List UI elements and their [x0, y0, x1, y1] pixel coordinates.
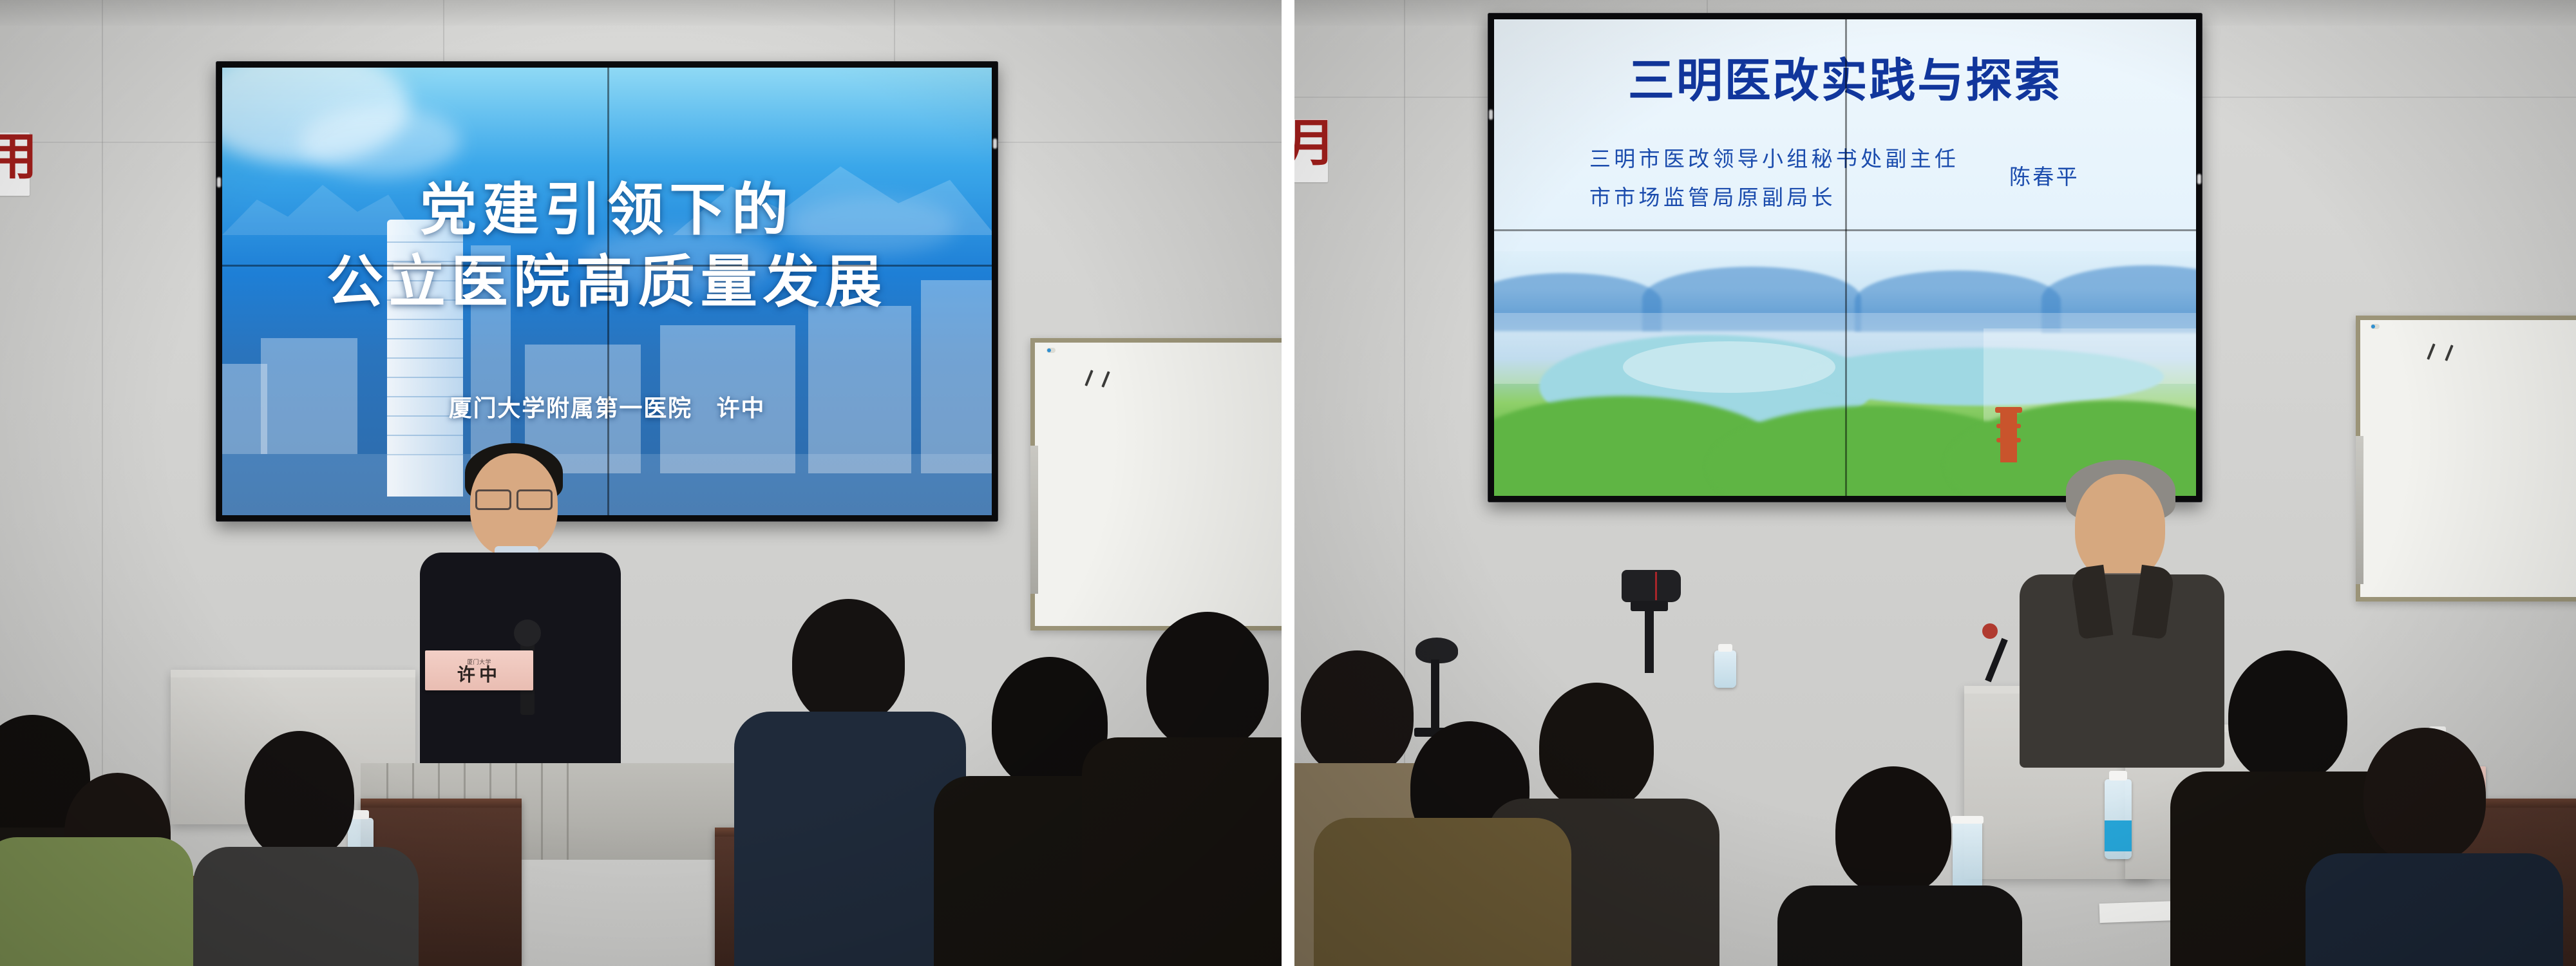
audience-head — [2228, 650, 2347, 782]
pagoda-eave — [1996, 424, 2021, 428]
whiteboard — [1030, 338, 1282, 630]
audience-head — [1539, 683, 1654, 810]
fire-safety-sign: 用 — [0, 133, 30, 196]
slide-subtitle-line2: 市市场监管局原副局长 — [1589, 180, 1836, 211]
audience-head — [1146, 612, 1269, 750]
whiteboard-magnet — [2371, 324, 2380, 329]
slide-presenter-name: 陈春平 — [2009, 160, 2079, 191]
audience-shoulders — [734, 712, 966, 966]
lectern-microphone-head — [1982, 623, 1998, 639]
glasses-right-lens — [516, 489, 553, 510]
video-wall-screen: 三明医改实践与探索 三明市医改领导小组秘书处副主任 市市场监管局原副局长 陈春平 — [1494, 19, 2196, 496]
video-camera — [1622, 570, 1681, 602]
audience-head — [792, 599, 905, 724]
audience-head — [245, 731, 354, 860]
speaker-coat — [2020, 574, 2224, 768]
audience-head — [1835, 766, 1951, 895]
slide-subtitle-line1: 三明市医改领导小组秘书处副主任 — [1589, 142, 1959, 173]
nameplate-left: 厦门大学 许中 — [425, 650, 533, 690]
whiteboard-mark — [1084, 370, 1093, 386]
pagoda-eave — [1996, 438, 2021, 442]
whiteboard-tray — [1030, 446, 1038, 594]
video-wall-seam-horizontal — [222, 265, 992, 267]
panel-divider — [1282, 0, 1294, 966]
video-wall-seam-vertical — [1845, 19, 1847, 496]
audience-shoulders — [2306, 853, 2563, 966]
left-photograph: 用 — [0, 0, 1282, 966]
whiteboard-mark — [2445, 345, 2453, 361]
water-bottle — [2105, 779, 2132, 859]
ceiling-left — [0, 0, 1282, 26]
audience-head — [2363, 728, 2486, 863]
tripod-pole — [1645, 610, 1654, 673]
bezel-glint — [1489, 109, 1493, 120]
glasses-left-lens — [475, 489, 511, 510]
whiteboard-mark — [1101, 371, 1110, 388]
bezel-glint — [993, 138, 997, 149]
whiteboard-tray — [2356, 436, 2363, 584]
video-wall: 三明医改实践与探索 三明市医改领导小组秘书处副主任 市市场监管局原副局长 陈春平 — [1488, 13, 2202, 502]
audience-head — [1301, 650, 1414, 776]
speaker-right — [2016, 464, 2228, 734]
screenshot-root: 用 — [0, 0, 2576, 966]
audience-shoulders — [193, 847, 419, 966]
speaker-head — [2075, 474, 2165, 581]
bezel-glint — [2197, 174, 2201, 184]
audience-shoulders — [1314, 818, 1571, 966]
whiteboard-mark — [2427, 343, 2435, 360]
microphone-head — [514, 620, 541, 647]
pagoda — [2000, 412, 2017, 462]
nameplate-name: 许中 — [457, 666, 501, 684]
pagoda-eave — [1995, 407, 2022, 413]
whiteboard — [2356, 316, 2576, 601]
audience-shoulders — [0, 837, 193, 966]
audience-shoulders — [1777, 885, 2022, 966]
audience-shoulders — [1082, 737, 1282, 966]
video-wall-seam-horizontal — [1494, 229, 2196, 231]
fire-safety-sign: 月 — [1294, 119, 1328, 182]
speaker-left — [406, 444, 638, 766]
bezel-glint — [217, 177, 221, 187]
water-cup — [1953, 821, 1982, 895]
right-photograph: 月 三明医改实践与探索 三明市医改领导小组秘书处副主任 市市场监管局原副局长 陈… — [1294, 0, 2576, 966]
microphone-pole — [1431, 659, 1439, 730]
whiteboard-magnet — [1046, 348, 1056, 353]
water-bottle — [1714, 650, 1736, 688]
